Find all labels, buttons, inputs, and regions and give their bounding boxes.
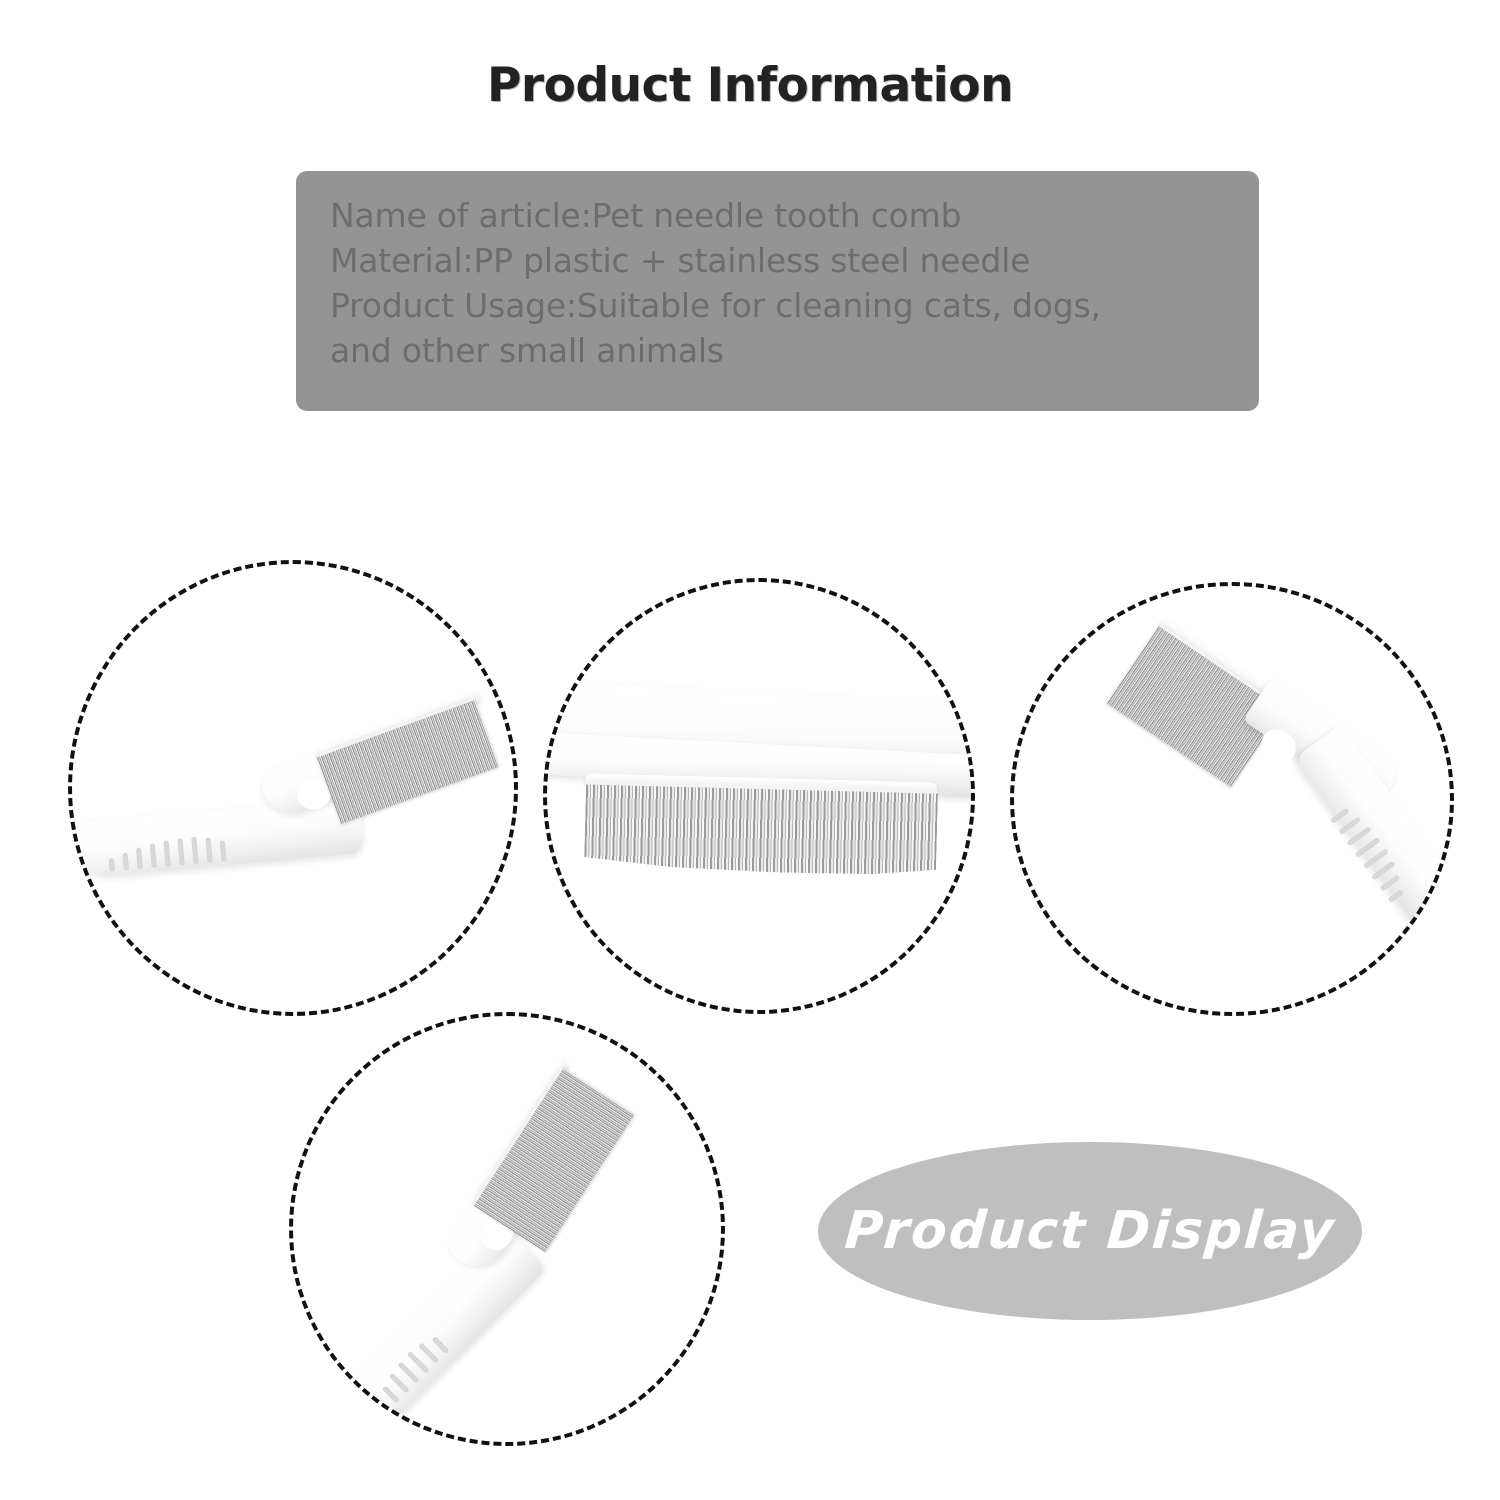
info-line-usage: Product Usage:Suitable for cleaning cats… — [330, 283, 1225, 328]
product-display-badge-label: Product Display — [843, 1201, 1337, 1261]
comb-illustration — [293, 1016, 721, 1442]
product-photo-top-right-image — [1014, 586, 1450, 1012]
product-display-badge: Product Display — [818, 1142, 1362, 1320]
product-photo-top-right — [1010, 582, 1454, 1016]
comb-illustration — [547, 682, 971, 912]
info-line-name: Name of article:Pet needle tooth comb — [330, 193, 1225, 238]
product-photo-top-left — [68, 560, 518, 1016]
comb-steel-teeth — [584, 781, 938, 876]
product-photo-bottom-left — [289, 1012, 725, 1446]
comb-handle — [329, 1227, 547, 1442]
product-photo-top-center — [543, 578, 975, 1014]
product-info-panel: Name of article:Pet needle tooth comb Ma… — [296, 171, 1259, 411]
info-line-usage-cont: and other small animals — [330, 328, 1225, 373]
product-photo-top-left-image — [72, 564, 514, 1012]
comb-illustration — [1014, 586, 1450, 1012]
comb-illustration — [72, 606, 514, 962]
info-line-material: Material:PP plastic + stainless steel ne… — [330, 238, 1225, 283]
product-photo-bottom-left-image — [293, 1016, 721, 1442]
page-title: Product Information — [0, 58, 1500, 113]
product-information-page: Product Information Name of article:Pet … — [0, 0, 1500, 1500]
product-photo-top-center-image — [547, 582, 971, 1010]
